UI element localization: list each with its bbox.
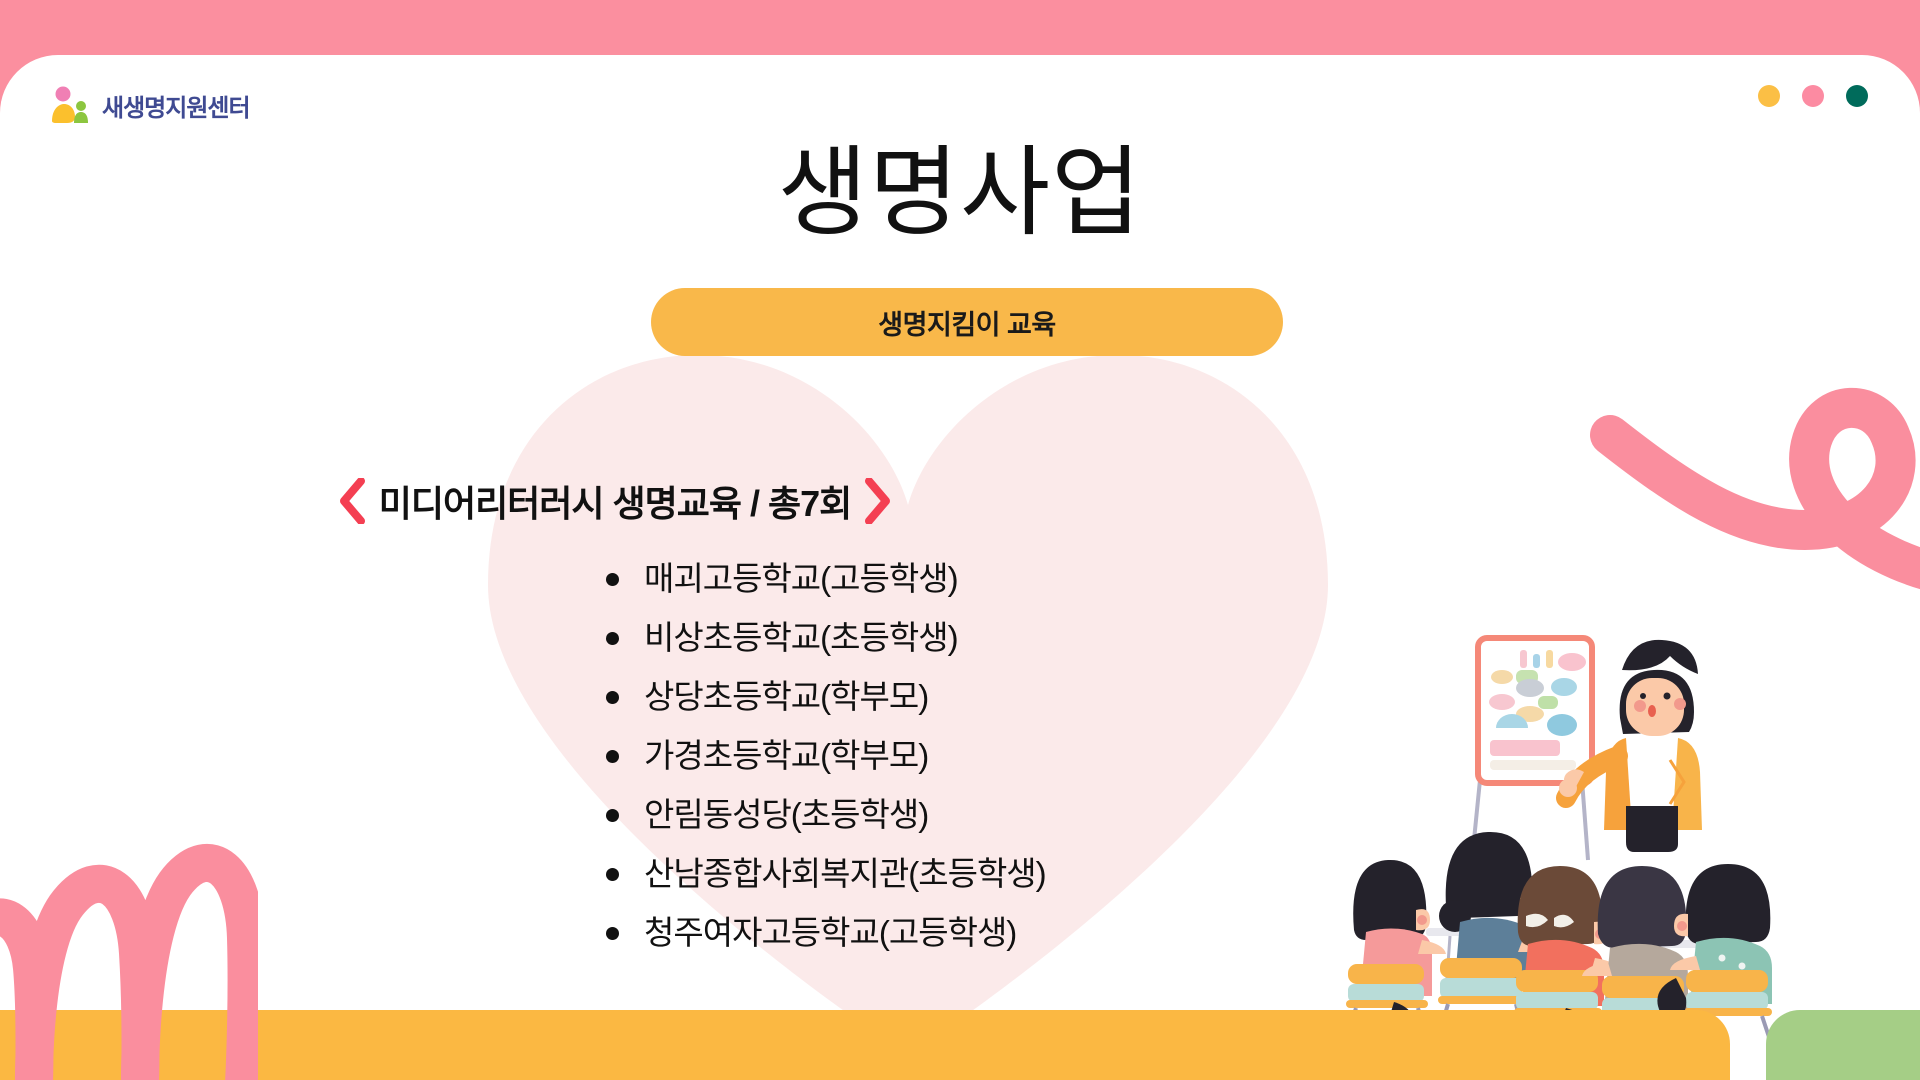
parent-child-figure-icon [50,85,92,125]
list-item: 매괴고등학교(고등학생) [644,549,1230,608]
cursive-loop-squiggle-icon [1590,340,1920,600]
bottom-bar-yellow [0,1010,1730,1080]
bullet-icon [606,632,619,645]
window-dots [1758,85,1868,107]
list-item-label: 산남종합사회복지관(초등학생) [644,855,1046,892]
section-heading: 미디어리터러시 생명교육 / 총7회 [0,475,1230,527]
list-item: 산남종합사회복지관(초등학생) [644,844,1230,903]
list-item: 안림동성당(초등학생) [644,785,1230,844]
program-category-label: 생명지킴이 교육 [878,303,1055,342]
bullet-icon [606,809,619,822]
program-content: 미디어리터러시 생명교육 / 총7회 매괴고등학교(고등학생) 비상초등학교(초… [0,475,1230,962]
section-heading-label: 미디어리터러시 생명교육 / 총7회 [379,475,852,527]
chevron-left-icon [339,478,365,524]
bullet-icon [606,750,619,763]
bullet-icon [606,868,619,881]
dot-yellow[interactable] [1758,85,1780,107]
list-item-label: 비상초등학교(초등학생) [644,619,958,656]
page-title: 생명사업 [0,139,1920,247]
list-item: 비상초등학교(초등학생) [644,608,1230,667]
slide-card: 새생명지원센터 생명사업 생명지킴이 교육 미디어리터러시 생명교육 / 총7회… [0,55,1920,1080]
bullet-icon [606,927,619,940]
program-category-pill[interactable]: 생명지킴이 교육 [651,288,1283,356]
bullet-icon [606,573,619,586]
dot-pink[interactable] [1802,85,1824,107]
list-item: 가경초등학교(학부모) [644,726,1230,785]
school-list: 매괴고등학교(고등학생) 비상초등학교(초등학생) 상당초등학교(학부모) 가경… [0,549,1230,962]
list-item: 청주여자고등학교(고등학생) [644,903,1230,962]
list-item-label: 매괴고등학교(고등학생) [644,560,958,597]
list-item-label: 상당초등학교(학부모) [644,678,928,715]
list-item-label: 가경초등학교(학부모) [644,737,928,774]
bottom-bar-green [1766,1010,1920,1080]
list-item: 상당초등학교(학부모) [644,667,1230,726]
classroom-lecture-illustration-icon [1330,610,1790,1040]
list-item-label: 청주여자고등학교(고등학생) [644,914,1016,951]
logo-text: 새생명지원센터 [102,88,250,123]
dot-teal[interactable] [1846,85,1868,107]
bullet-icon [606,691,619,704]
list-item-label: 안림동성당(초등학생) [644,796,928,833]
logo[interactable]: 새생명지원센터 [50,85,250,125]
chevron-right-icon [865,478,891,524]
